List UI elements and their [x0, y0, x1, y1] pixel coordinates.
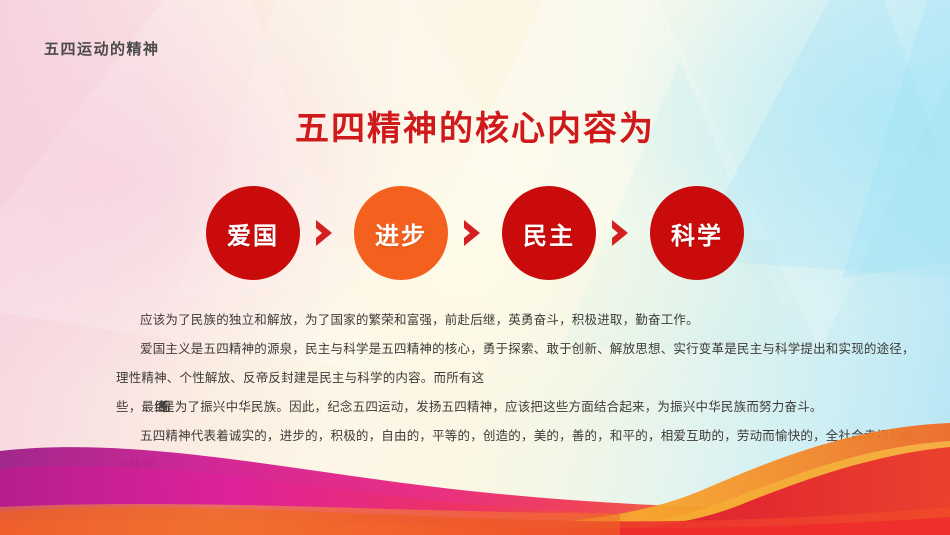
chevron-right-icon	[448, 186, 502, 280]
flow-node-label: 爱国	[227, 216, 279, 251]
flow-node-jinbu[interactable]: 进步	[354, 186, 448, 280]
flow-node-aiguo[interactable]: 爱国	[206, 186, 300, 280]
body-line-2: 爱国主义是五四精神的源泉，民主与科学是五四精神的核心，勇于探索、敢于创新、解放思…	[116, 335, 916, 364]
flow-node-label: 民主	[523, 216, 575, 251]
slide-canvas: 五四运动的精神 五四精神的核心内容为 爱国 进步 民主	[0, 0, 950, 535]
page-title: 五四精神的核心内容为	[0, 101, 950, 150]
header-title: 五四运动的精神	[44, 38, 160, 59]
flow-node-kexue[interactable]: 科学	[650, 186, 744, 280]
body-line-4-suffix: 是为了振兴中华民族。因此，纪念五四运动，发扬五四精神，应该把这些方面结合起来，为…	[162, 400, 822, 414]
body-line-3: 理性精神、个性解放、反帝反封建是民主与科学的内容。而所有这	[116, 364, 916, 393]
flow-node-label: 进步	[375, 216, 427, 251]
body-line-4-prefix: 些，最	[116, 400, 154, 414]
flow-node-label: 科学	[671, 216, 723, 251]
bottom-wave-decoration	[0, 415, 950, 535]
flow-diagram: 爱国 进步 民主 科学	[0, 186, 950, 280]
flow-node-minzhu[interactable]: 民主	[502, 186, 596, 280]
chevron-right-icon	[300, 186, 354, 280]
chevron-right-icon	[596, 186, 650, 280]
body-line-1: 应该为了民族的独立和解放，为了国家的繁荣和富强，前赴后继，英勇奋斗，积极进取，勤…	[116, 306, 916, 335]
